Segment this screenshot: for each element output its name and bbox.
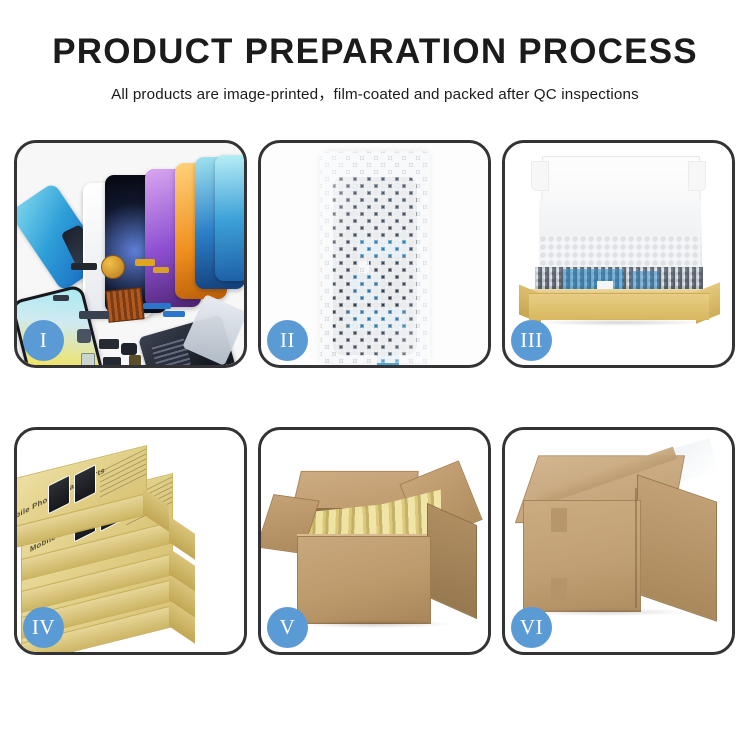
step-panel-5: V: [258, 427, 491, 655]
page-subtitle: All products are image-printed，film-coat…: [0, 82, 750, 104]
carton-tab-lower: [551, 578, 567, 600]
page-title: PRODUCT PREPARATION PROCESS: [0, 34, 750, 71]
box-phone-graphic-2: [74, 464, 96, 504]
step-badge-2: II: [267, 320, 308, 361]
part-battery: [81, 353, 95, 365]
step-badge-3: III: [511, 320, 552, 361]
process-steps-grid: I II: [14, 140, 736, 655]
box-lid-tab-right: [688, 161, 706, 191]
drop-shadow: [531, 319, 709, 326]
part-flex-cable-1: [143, 303, 171, 309]
drop-shadow: [299, 620, 449, 628]
step-panel-3: III: [502, 140, 735, 368]
box-lid-tab-left: [531, 161, 549, 191]
step-badge-5: V: [267, 607, 308, 648]
part-connector-1: [71, 263, 97, 270]
carton-tab-upper: [551, 508, 567, 532]
carton-front-face: [297, 536, 431, 624]
content-blue-accent-2: [631, 271, 659, 291]
carton-edge-seam: [635, 488, 637, 608]
step-panel-6: VI: [502, 427, 735, 655]
part-coin: [101, 255, 125, 279]
part-flex-gold-2: [153, 267, 169, 273]
page-header: PRODUCT PREPARATION PROCESS All products…: [0, 0, 750, 104]
box-phone-graphic-1: [48, 475, 70, 515]
step-badge-1: I: [23, 320, 64, 361]
drop-shadow: [527, 608, 687, 616]
part-module-2: [99, 339, 119, 349]
plastic-sheen: [320, 151, 430, 363]
carton-front-face: [523, 500, 641, 612]
part-flex-cable-2: [163, 311, 185, 317]
step-panel-1: I: [14, 140, 247, 368]
phone-cyan: [215, 155, 244, 281]
part-chip-array: [105, 287, 144, 323]
step-badge-6: VI: [511, 607, 552, 648]
part-flex-gold-1: [135, 259, 155, 266]
step-panel-2: II: [258, 140, 491, 368]
step-panel-4: Mobile Phone Spare Parts Mobile Phone Sp…: [14, 427, 247, 655]
step-badge-4: IV: [23, 607, 64, 648]
part-antenna: [53, 295, 69, 301]
box-spec-lines: [100, 449, 146, 498]
box-front-panel: [529, 293, 709, 320]
part-speaker: [103, 357, 121, 365]
part-camera: [121, 343, 137, 355]
part-sim-tray: [129, 355, 141, 365]
foam-liner: [539, 235, 701, 269]
part-module-1: [77, 329, 91, 343]
part-bracket: [79, 311, 109, 319]
